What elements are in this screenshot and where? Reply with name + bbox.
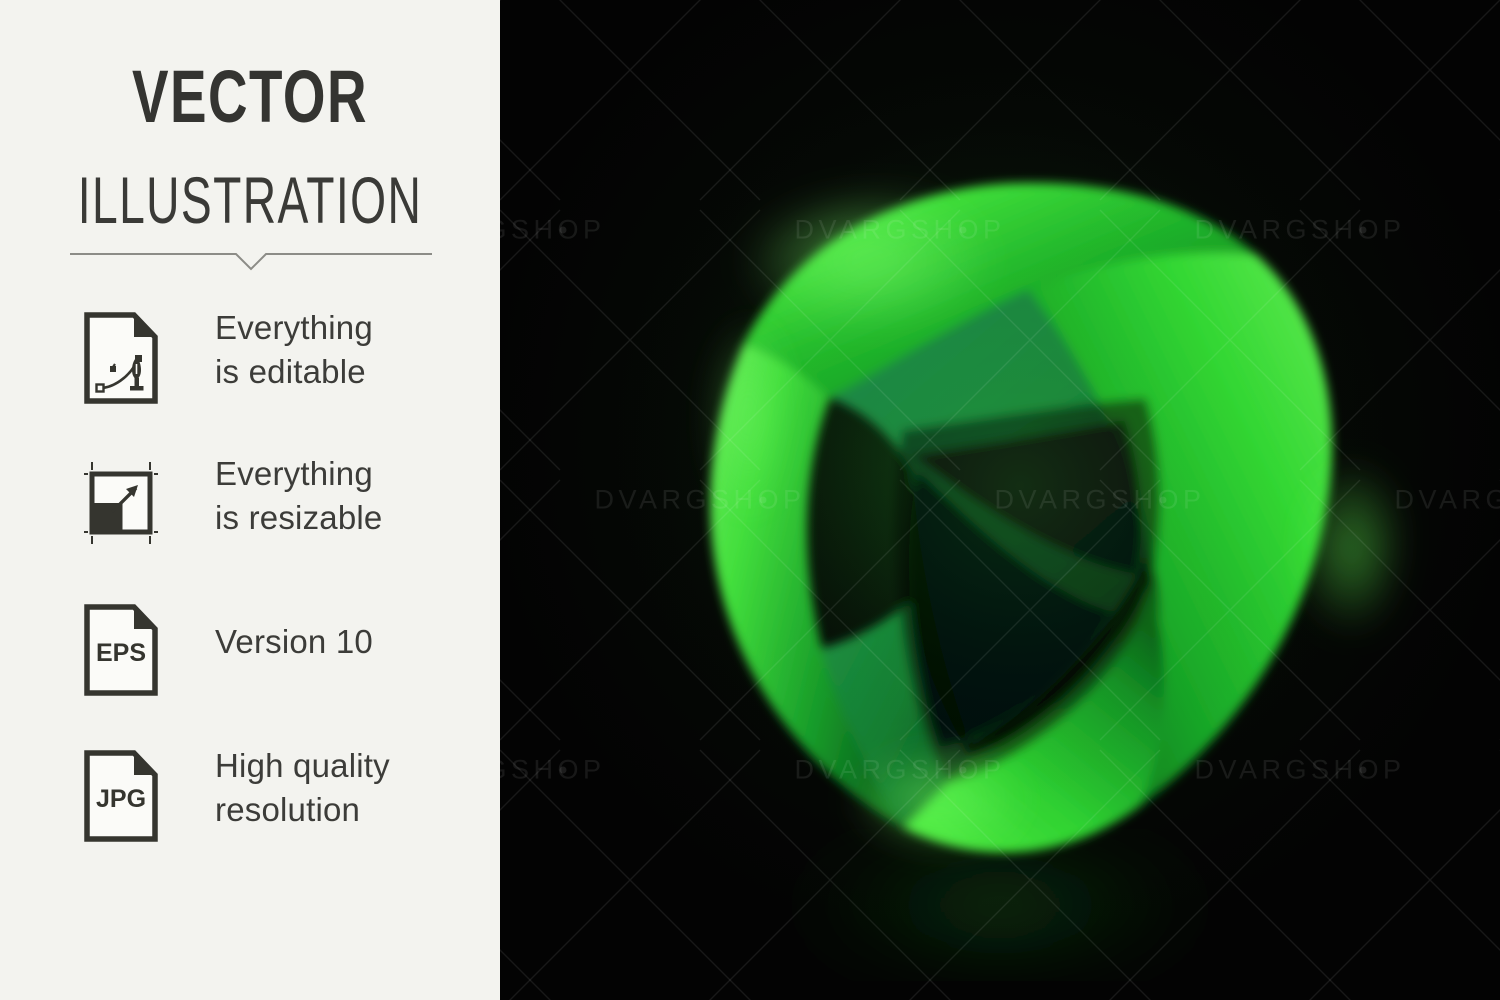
list-item-label-line2: is editable xyxy=(215,350,485,394)
page-title: VECTOR xyxy=(65,58,435,136)
list-item-label-line1: Everything xyxy=(215,306,485,350)
eps-file-icon: EPS xyxy=(84,604,158,696)
list-item-label-line1: Everything xyxy=(215,452,485,496)
list-item: JPG High quality resolution xyxy=(0,738,500,884)
list-item: EPS Version 10 xyxy=(0,592,500,738)
artwork-reflection xyxy=(770,863,1230,947)
eps-file-icon-label: EPS xyxy=(96,639,146,667)
list-item: Everything is resizable xyxy=(0,446,500,592)
resize-crop-arrow-icon xyxy=(84,458,158,550)
list-item-label: High quality resolution xyxy=(215,744,485,832)
document-pen-tool-icon xyxy=(84,312,158,404)
list-item-label-line2: resolution xyxy=(215,788,485,832)
artwork-panel: DVARGSHOPDVARGSHOPDVARGSHOPDVARGSHOPDVAR… xyxy=(500,0,1500,1000)
title-block: VECTOR ILLUSTRATION xyxy=(0,58,500,236)
list-item: Everything is editable xyxy=(0,300,500,446)
divider xyxy=(70,246,432,276)
list-item-label: Everything is resizable xyxy=(215,452,485,540)
info-panel: VECTOR ILLUSTRATION xyxy=(0,0,500,1000)
green-twisted-triangle-artwork xyxy=(500,0,1500,1000)
vector-illustration-preview: VECTOR ILLUSTRATION xyxy=(0,0,1500,1000)
jpg-file-icon: JPG xyxy=(84,750,158,842)
page-subtitle: ILLUSTRATION xyxy=(75,164,425,236)
list-item-label: Version 10 xyxy=(215,620,485,664)
feature-list: Everything is editable xyxy=(0,300,500,884)
list-item-label-line1: Version 10 xyxy=(215,620,485,664)
jpg-file-icon-label: JPG xyxy=(96,785,146,813)
list-item-label-line1: High quality xyxy=(215,744,485,788)
list-item-label: Everything is editable xyxy=(215,306,485,394)
list-item-label-line2: is resizable xyxy=(215,496,485,540)
